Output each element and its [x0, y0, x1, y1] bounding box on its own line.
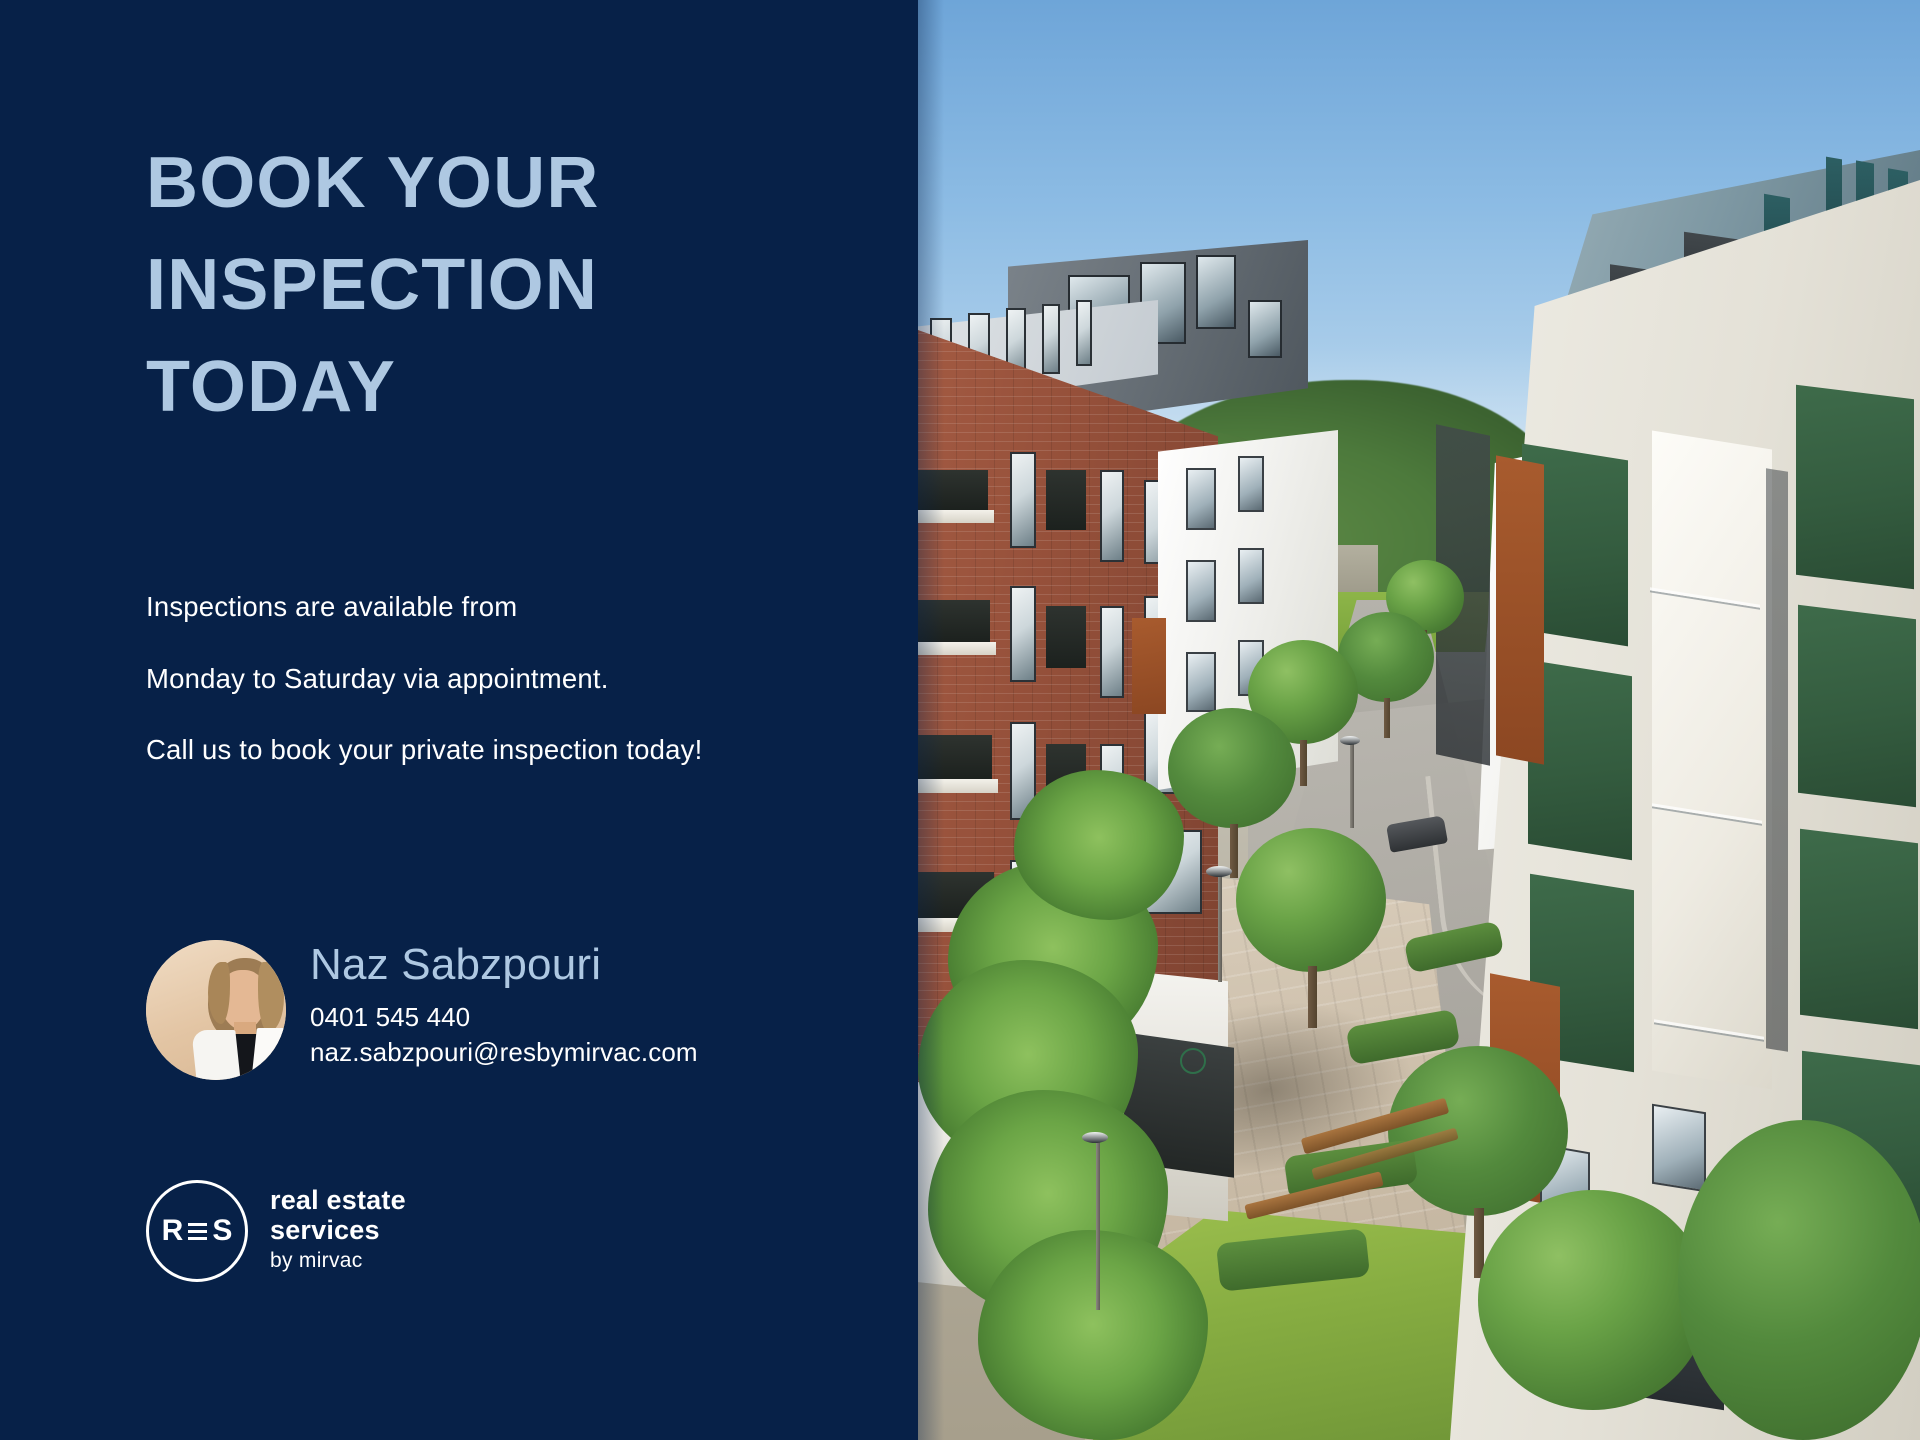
logo-line-services: services	[270, 1215, 406, 1245]
marketing-poster: BOOK YOUR INSPECTION TODAY Inspections a…	[0, 0, 1920, 1440]
palm-cluster	[978, 1230, 1208, 1440]
ground-floor-window	[1652, 1104, 1706, 1193]
foreground-tree	[1478, 1190, 1708, 1410]
balcony-slab	[918, 510, 994, 523]
foreground-tree	[1678, 1120, 1920, 1440]
rust-cladding-panel	[1496, 455, 1544, 764]
tree-trunk	[1300, 740, 1307, 786]
left-content-panel: BOOK YOUR INSPECTION TODAY Inspections a…	[0, 0, 918, 1440]
lamp-post	[1350, 742, 1354, 828]
page-title: BOOK YOUR INSPECTION TODAY	[146, 132, 866, 439]
body-line-call-to-action: Call us to book your private inspection …	[146, 736, 906, 764]
monogram-equals-icon	[188, 1220, 207, 1242]
agent-name: Naz Sabzpouri	[310, 942, 698, 988]
agent-details: Naz Sabzpouri 0401 545 440 naz.sabzpouri…	[310, 940, 698, 1070]
apartment-window	[1238, 456, 1264, 512]
apartment-window	[1100, 470, 1124, 562]
lamp-post	[1218, 872, 1222, 982]
tree-trunk	[1308, 966, 1317, 1028]
logo-line-real-estate: real estate	[270, 1185, 406, 1215]
balcony-recess	[918, 735, 992, 779]
balcony-recess	[1046, 606, 1086, 668]
green-screen-panel	[1796, 385, 1914, 589]
portrait-jacket-left	[191, 1030, 240, 1080]
apartment-window	[1186, 560, 1216, 622]
apartment-window	[1100, 606, 1124, 698]
street-tree	[1168, 708, 1296, 828]
rust-cladding-panel	[1132, 618, 1166, 714]
monogram-letter-r: R	[162, 1216, 184, 1246]
body-line-days: Monday to Saturday via appointment.	[146, 665, 906, 693]
foreground-tree	[1388, 1046, 1568, 1216]
logo-wordmark: real estate services by mirvac	[270, 1185, 406, 1277]
facade-shadow-groove	[1766, 468, 1788, 1051]
monogram-letter-s: S	[212, 1216, 232, 1246]
lamp-head-icon	[1206, 866, 1232, 877]
apartment-window	[1010, 452, 1036, 548]
palm-cluster	[1014, 770, 1184, 920]
balcony-recess	[918, 470, 988, 510]
bicycle-icon	[1180, 1048, 1206, 1074]
apartment-window	[1186, 468, 1216, 530]
portrait-hair-left	[208, 962, 230, 1024]
grey-building-window	[1248, 300, 1282, 358]
facade-window	[1076, 300, 1092, 366]
apartment-window	[1186, 652, 1216, 712]
green-screen-panel	[1800, 829, 1918, 1029]
avatar	[146, 940, 286, 1080]
lamp-head-icon	[1340, 736, 1360, 745]
avatar-portrait	[192, 956, 286, 1080]
res-by-mirvac-logo: R S real estate services by mirvac	[146, 1180, 406, 1282]
lamp-post	[1096, 1140, 1100, 1310]
property-photograph	[918, 0, 1920, 1440]
cream-facade-bay	[1652, 430, 1772, 1089]
lamp-head-icon	[1082, 1132, 1108, 1143]
facade-window	[1042, 304, 1060, 374]
apartment-window	[1010, 586, 1036, 682]
res-monogram: R S	[149, 1183, 245, 1279]
agent-contact-block: Naz Sabzpouri 0401 545 440 naz.sabzpouri…	[146, 940, 698, 1080]
body-line-availability: Inspections are available from	[146, 593, 906, 621]
apartment-window	[1238, 548, 1264, 604]
agent-phone[interactable]: 0401 545 440	[310, 1000, 698, 1035]
balcony-slab	[918, 642, 996, 655]
street-tree	[1236, 828, 1386, 972]
grey-building-window	[1196, 255, 1236, 329]
green-screen-panel	[1798, 605, 1916, 807]
res-circle-icon: R S	[146, 1180, 248, 1282]
logo-line-by-mirvac: by mirvac	[270, 1245, 406, 1277]
tree-trunk	[1384, 698, 1390, 738]
balcony-slab	[918, 779, 998, 793]
portrait-jacket-right	[251, 1028, 286, 1080]
agent-email[interactable]: naz.sabzpouri@resbymirvac.com	[310, 1035, 698, 1070]
portrait-hair-right	[258, 962, 284, 1032]
balcony-recess	[918, 600, 990, 642]
balcony-recess	[1046, 470, 1086, 530]
body-copy: Inspections are available from Monday to…	[146, 593, 906, 764]
